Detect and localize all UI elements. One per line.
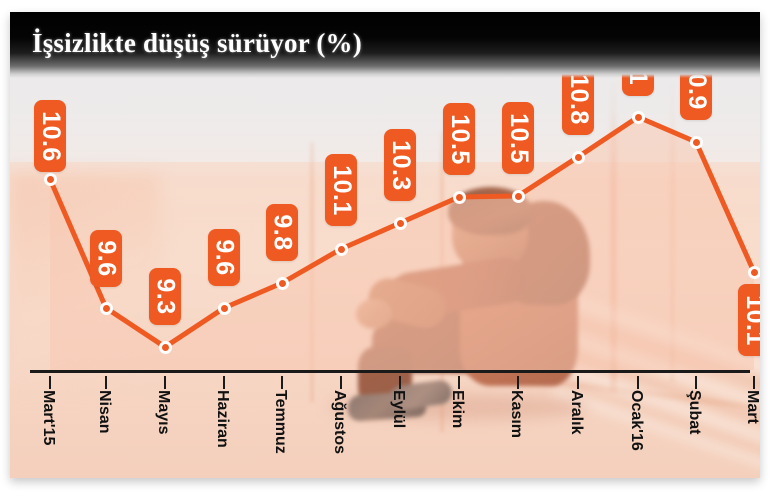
x-axis-label: Temmuz — [271, 390, 289, 454]
x-axis-label: Şubat — [685, 390, 703, 434]
data-label-value: 10.5 — [504, 113, 533, 164]
x-axis-label: Ocak'16 — [627, 390, 645, 451]
data-label-badge: 9.6 — [90, 230, 122, 287]
x-axis-tick — [164, 376, 166, 389]
data-label-badge: 10.6 — [34, 100, 66, 172]
data-point — [100, 302, 113, 315]
x-axis-label: Mayıs — [154, 390, 172, 434]
data-label-value: 10.6 — [36, 111, 65, 162]
data-point — [690, 136, 703, 149]
data-label-value: 10.1 — [327, 165, 356, 216]
x-axis-tick — [517, 376, 519, 389]
data-label-badge: 10.1 — [325, 154, 357, 226]
x-axis-tick — [695, 376, 697, 389]
data-label-badge: 10.5 — [443, 103, 475, 175]
infographic-figure: Mart'15NisanMayısHaziranTemmuzAğustosEyl… — [0, 0, 770, 498]
data-label-value: 9.3 — [151, 278, 180, 314]
x-axis-label: Mart — [743, 390, 760, 424]
data-label-badge: 10.5 — [502, 102, 534, 174]
x-axis-label: Haziran — [213, 390, 231, 448]
x-axis-tick — [458, 376, 460, 389]
data-label-badge: 9.8 — [266, 204, 298, 261]
data-point — [572, 151, 585, 164]
data-point — [632, 111, 645, 124]
data-point — [218, 302, 231, 315]
page-title: İşsizlikte düşüş sürüyor (%) — [32, 28, 362, 59]
x-axis-tick — [49, 376, 51, 389]
x-axis-label: Mart'15 — [39, 390, 57, 445]
data-label-value: 9.6 — [210, 239, 239, 275]
data-point — [394, 217, 407, 230]
data-label-badge: 9.6 — [208, 229, 240, 286]
data-label-value: 10.1 — [740, 295, 760, 346]
data-point — [512, 190, 525, 203]
data-label-value: 10.3 — [386, 140, 415, 191]
x-axis-label: Ağustos — [330, 390, 348, 454]
data-label-value: 9.8 — [268, 214, 297, 250]
chart-panel: Mart'15NisanMayısHaziranTemmuzAğustosEyl… — [10, 12, 760, 478]
data-label-badge: 10.3 — [384, 129, 416, 201]
x-axis-label: Eylül — [389, 390, 407, 428]
x-axis-tick — [223, 376, 225, 389]
x-axis-label: Nisan — [95, 390, 113, 434]
data-point — [276, 277, 289, 290]
x-axis-line — [30, 370, 750, 373]
data-label-badge: 10.1 — [738, 284, 760, 356]
data-point — [44, 173, 57, 186]
x-axis-tick — [281, 376, 283, 389]
x-axis-tick — [753, 376, 755, 389]
x-axis-tick — [637, 376, 639, 389]
data-label-value: 9.6 — [92, 240, 121, 276]
data-point — [453, 191, 466, 204]
x-axis-label: Kasım — [507, 390, 525, 438]
x-axis-tick — [399, 376, 401, 389]
line-chart: Mart'15NisanMayısHaziranTemmuzAğustosEyl… — [10, 12, 760, 478]
x-axis-tick — [340, 376, 342, 389]
data-point — [748, 266, 761, 279]
x-axis-tick — [577, 376, 579, 389]
x-axis-tick — [105, 376, 107, 389]
data-label-value: 10.8 — [564, 74, 593, 125]
title-bar: İşsizlikte düşüş sürüyor (%) — [10, 12, 760, 78]
data-point — [159, 341, 172, 354]
data-label-value: 10.5 — [445, 114, 474, 165]
x-axis-label: Ekim — [448, 390, 466, 428]
data-point — [335, 243, 348, 256]
data-label-badge: 9.3 — [149, 268, 181, 325]
x-axis-label: Aralık — [567, 390, 585, 434]
